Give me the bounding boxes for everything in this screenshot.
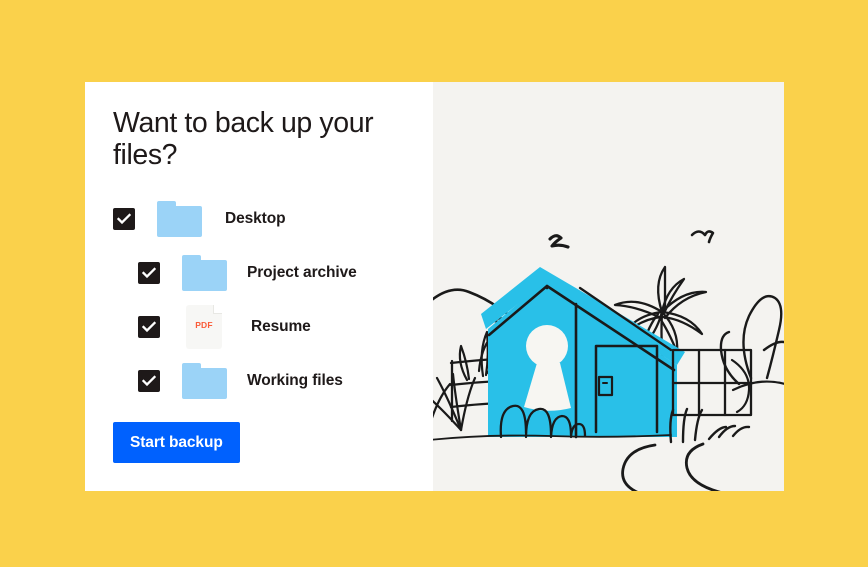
- check-icon: [142, 321, 156, 333]
- file-list: Desktop Project archive: [85, 192, 433, 408]
- check-icon: [142, 267, 156, 279]
- house: [481, 267, 751, 437]
- folder-icon-body: [157, 206, 202, 237]
- list-item[interactable]: Working files: [85, 354, 433, 408]
- list-item[interactable]: Desktop: [85, 192, 433, 246]
- pdf-file-icon-label: PDF: [186, 320, 222, 330]
- backup-panel: Want to back up your files? Desktop: [85, 82, 433, 491]
- backup-card: Want to back up your files? Desktop: [85, 82, 784, 491]
- illustration-canvas: [433, 82, 784, 491]
- cactus-plant: [721, 296, 784, 384]
- checkbox-desktop[interactable]: [113, 208, 135, 230]
- winding-path-right: [686, 444, 765, 491]
- folder-icon: [182, 363, 227, 399]
- folder-icon: [182, 255, 227, 291]
- bird-right-icon: [692, 231, 713, 242]
- pdf-file-icon-fold: [213, 305, 222, 314]
- checkbox-working-files[interactable]: [138, 370, 160, 392]
- grass-tufts: [433, 332, 488, 430]
- pdf-file-icon: PDF: [186, 305, 222, 349]
- winding-path-left: [529, 445, 655, 491]
- list-item-label: Resume: [251, 318, 311, 336]
- checkbox-project-archive[interactable]: [138, 262, 160, 284]
- folder-icon-body: [182, 368, 227, 399]
- list-item[interactable]: PDF Resume: [85, 300, 433, 354]
- list-item[interactable]: Project archive: [85, 246, 433, 300]
- list-item-label: Desktop: [225, 210, 285, 228]
- start-backup-button[interactable]: Start backup: [113, 422, 240, 463]
- page-title: Want to back up your files?: [113, 108, 403, 172]
- folder-icon-body: [182, 260, 227, 291]
- bird-left-icon: [550, 236, 568, 247]
- list-item-label: Working files: [247, 372, 343, 390]
- check-icon: [142, 375, 156, 387]
- house-with-keyhole-illustration: [433, 82, 784, 491]
- folder-icon: [157, 201, 202, 237]
- check-icon: [117, 213, 131, 225]
- house-window: [673, 350, 751, 415]
- list-item-label: Project archive: [247, 264, 357, 282]
- checkbox-resume[interactable]: [138, 316, 160, 338]
